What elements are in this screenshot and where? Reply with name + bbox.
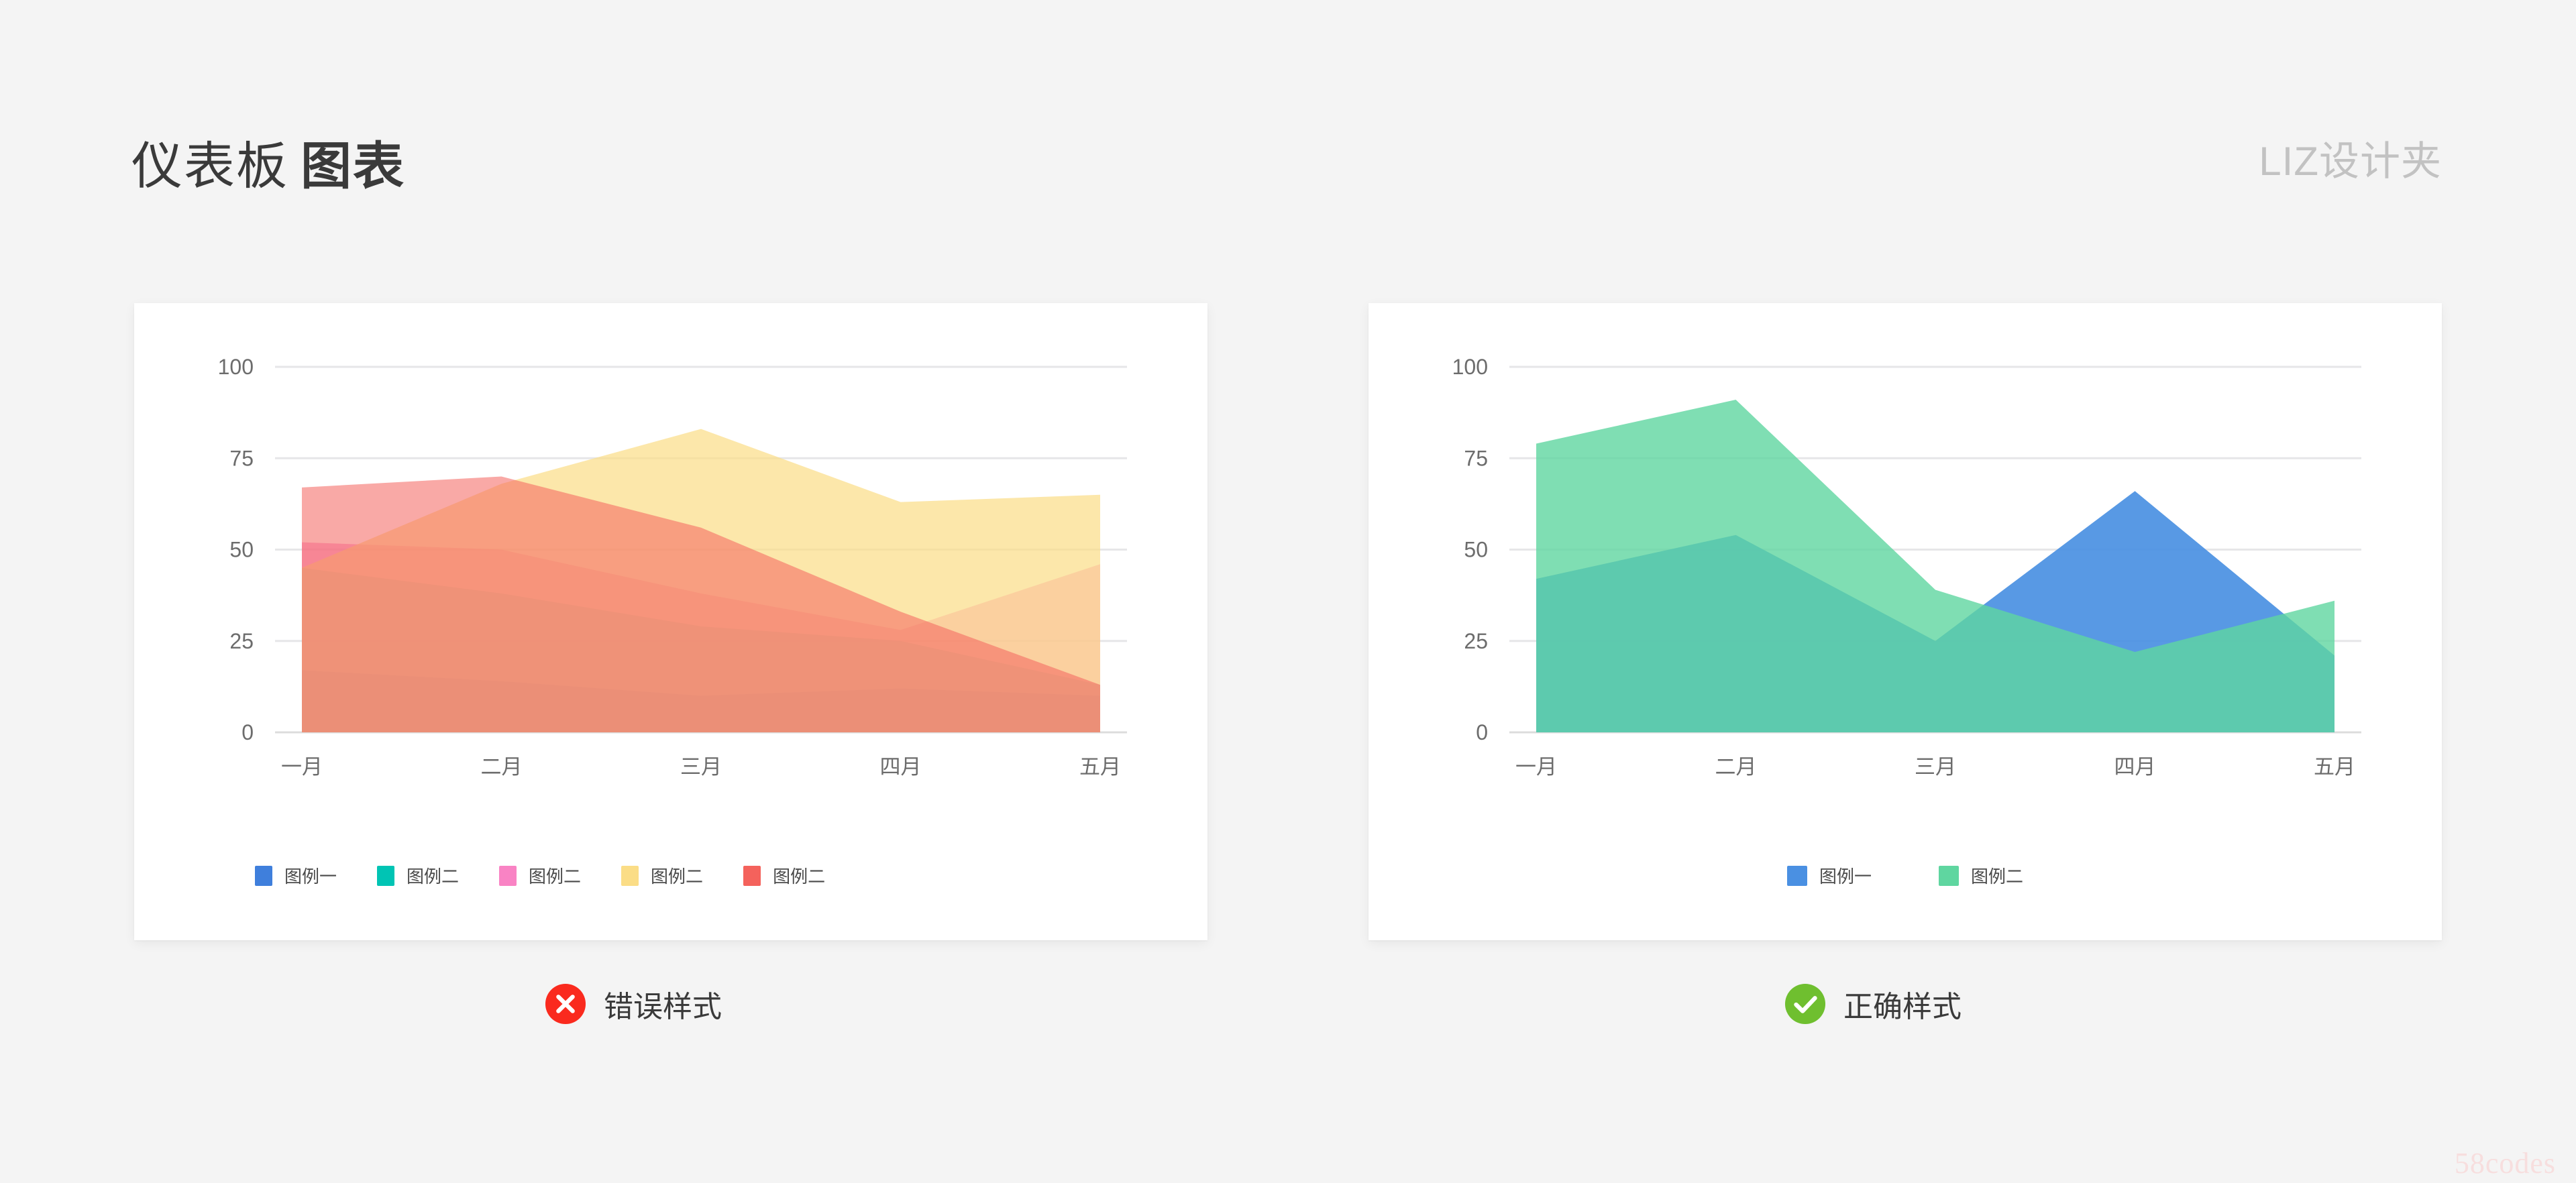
x-axis-tick-label: 二月 (1715, 755, 1757, 779)
legend-swatch-icon (1787, 866, 1807, 886)
chart-card-wrong: 0255075100一月二月三月四月五月 图例一图例二图例二图例二图例二 (134, 303, 1207, 940)
success-circle-icon (1784, 983, 1826, 1025)
x-axis-tick-label: 五月 (1079, 755, 1121, 779)
x-axis-tick-label: 二月 (481, 755, 523, 779)
x-axis-tick-label: 三月 (680, 755, 722, 779)
legend-item[interactable]: 图例二 (499, 863, 581, 888)
legend-item[interactable]: 图例二 (1939, 863, 2023, 888)
legend-swatch-icon (499, 866, 517, 886)
chart-card-correct: 0255075100一月二月三月四月五月 图例一图例二 (1368, 303, 2442, 940)
x-axis-tick-label: 四月 (2114, 755, 2156, 779)
caption-correct-style: 正确样式 (1784, 982, 1962, 1025)
legend-label: 图例二 (1971, 863, 2023, 888)
area-chart-wrong: 0255075100一月二月三月四月五月 (134, 303, 1207, 840)
legend-item[interactable]: 图例二 (743, 863, 825, 888)
caption-wrong-style: 错误样式 (545, 982, 722, 1025)
x-axis-tick-label: 四月 (880, 755, 922, 779)
legend-swatch-icon (621, 866, 639, 886)
legend-item[interactable]: 图例二 (621, 863, 703, 888)
legend-label: 图例二 (651, 863, 703, 888)
watermark: 58codes (2455, 1146, 2556, 1180)
chart-area-correct: 0255075100一月二月三月四月五月 (1368, 303, 2442, 840)
chart-legend-wrong: 图例一图例二图例二图例二图例二 (134, 863, 1207, 888)
caption-correct-label: 正确样式 (1843, 982, 1962, 1025)
legend-swatch-icon (743, 866, 761, 886)
page-title: 仪表板图表 (131, 125, 405, 199)
legend-label: 图例一 (1819, 863, 1872, 888)
page-title-bold: 图表 (301, 138, 405, 195)
legend-item[interactable]: 图例一 (1787, 863, 1872, 888)
chart-area-wrong: 0255075100一月二月三月四月五月 (134, 303, 1207, 840)
legend-label: 图例二 (529, 863, 581, 888)
dashboard-chart-page: 仪表板图表 LIZ设计夹 0255075100一月二月三月四月五月 图例一图例二… (0, 0, 2576, 1183)
legend-item[interactable]: 图例二 (377, 863, 459, 888)
legend-item[interactable]: 图例一 (255, 863, 337, 888)
y-axis-tick-label: 50 (1464, 538, 1488, 562)
legend-swatch-icon (377, 866, 394, 886)
error-circle-icon (545, 983, 586, 1025)
x-axis-tick-label: 一月 (281, 755, 323, 779)
y-axis-tick-label: 50 (229, 538, 254, 562)
legend-label: 图例二 (407, 863, 459, 888)
y-axis-tick-label: 100 (1452, 355, 1488, 379)
page-title-regular: 仪表板 (131, 138, 288, 195)
x-axis-tick-label: 五月 (2314, 755, 2355, 779)
legend-swatch-icon (1939, 866, 1959, 886)
y-axis-tick-label: 25 (229, 629, 254, 653)
legend-label: 图例一 (284, 863, 337, 888)
page-header: 仪表板图表 LIZ设计夹 (0, 0, 2576, 288)
area-chart-correct: 0255075100一月二月三月四月五月 (1368, 303, 2442, 840)
x-axis-tick-label: 一月 (1515, 755, 1557, 779)
x-axis-tick-label: 三月 (1915, 755, 1956, 779)
y-axis-tick-label: 0 (241, 720, 254, 744)
legend-swatch-icon (255, 866, 272, 886)
y-axis-tick-label: 25 (1464, 629, 1488, 653)
y-axis-tick-label: 100 (218, 355, 254, 379)
brand-label: LIZ设计夹 (2259, 129, 2442, 187)
y-axis-tick-label: 0 (1476, 720, 1488, 744)
y-axis-tick-label: 75 (1464, 446, 1488, 470)
chart-legend-correct: 图例一图例二 (1368, 863, 2442, 888)
legend-label: 图例二 (773, 863, 825, 888)
caption-wrong-label: 错误样式 (604, 982, 722, 1025)
y-axis-tick-label: 75 (229, 446, 254, 470)
